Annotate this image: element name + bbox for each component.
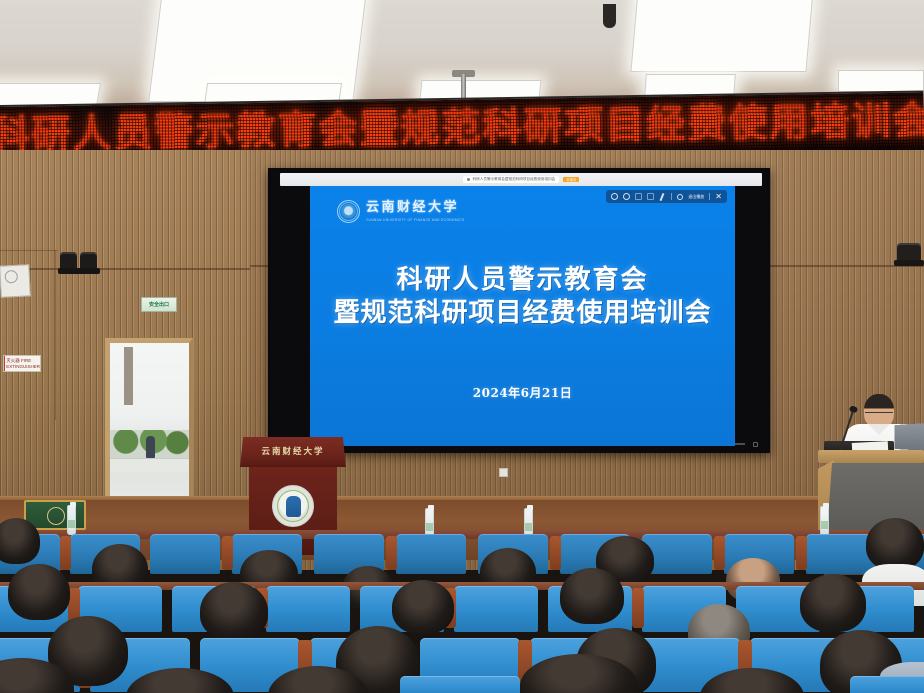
water-bottle bbox=[820, 506, 829, 536]
railing-outside bbox=[110, 458, 189, 472]
slide-title: 科研人员警示教育会 暨规范科研项目经费使用培训会 bbox=[310, 264, 735, 331]
wall-plaque bbox=[0, 264, 31, 298]
ceiling-light-panel bbox=[630, 0, 813, 72]
audience-head bbox=[866, 518, 924, 570]
exit-sign-text: 安全出口 bbox=[149, 301, 169, 308]
exit-sign: 安全出口 bbox=[141, 297, 177, 312]
ceiling-light-panel bbox=[838, 70, 924, 92]
logo-names: 云南财经大学 YUNNAN UNIVERSITY OF FINANCE AND … bbox=[366, 201, 464, 221]
logo-chinese-name: 云南财经大学 bbox=[366, 201, 464, 215]
audience-head bbox=[560, 568, 624, 624]
browser-tab[interactable]: 科研人员警示教育会暨规范科研项目经费使用培训会 bbox=[463, 176, 560, 183]
podium-emblem-icon bbox=[272, 485, 314, 527]
armrest bbox=[386, 536, 397, 570]
podium-label: 云南财经大学 bbox=[240, 445, 346, 457]
page-next-icon[interactable] bbox=[647, 193, 654, 200]
close-icon[interactable]: ✕ bbox=[715, 193, 722, 201]
stage-spotlight-right bbox=[897, 243, 921, 263]
armrest bbox=[60, 536, 71, 570]
player-toolbar: 退出播放 ✕ bbox=[606, 190, 727, 203]
university-logo: 云南财经大学 YUNNAN UNIVERSITY OF FINANCE AND … bbox=[337, 200, 464, 223]
laptop-icon[interactable] bbox=[894, 423, 924, 452]
armrest bbox=[632, 588, 644, 628]
wall-seam bbox=[0, 268, 250, 270]
armrest bbox=[222, 536, 233, 570]
seat[interactable] bbox=[396, 534, 466, 574]
seat[interactable] bbox=[266, 586, 350, 632]
wall-panel-line bbox=[0, 250, 58, 251]
screen-bottom-nub bbox=[735, 443, 745, 445]
toolbar-divider bbox=[671, 193, 672, 200]
university-emblem-icon bbox=[337, 200, 360, 223]
armrest bbox=[550, 536, 561, 570]
projection-screen: 科研人员警示教育会暨规范科研项目经费使用培训会 未保存 云南财经大学 YUNNA… bbox=[268, 168, 770, 453]
ceiling-speaker-icon bbox=[603, 4, 616, 28]
page-prev-icon[interactable] bbox=[635, 193, 642, 200]
pen-icon[interactable] bbox=[659, 193, 666, 200]
stage-spotlight-pair bbox=[60, 252, 98, 270]
audience-head bbox=[392, 580, 454, 634]
browser-tab-title: 科研人员警示教育会暨规范科研项目经费使用培训会 bbox=[473, 177, 556, 182]
slide-title-line1: 科研人员警示教育会 bbox=[310, 264, 735, 297]
slide-title-line2: 暨规范科研项目经费使用培训会 bbox=[310, 297, 735, 330]
record-label[interactable]: 退出播放 bbox=[688, 194, 704, 200]
seat[interactable] bbox=[850, 676, 924, 693]
seat[interactable] bbox=[150, 534, 220, 574]
led-banner-text: 科研人员警示教育会暨规范科研项目经费使用培训会 bbox=[0, 101, 924, 155]
screen-control-dot bbox=[753, 442, 758, 447]
logo-english-name: YUNNAN UNIVERSITY OF FINANCE AND ECONOMI… bbox=[366, 218, 464, 222]
fire-sign-text: 灭火器 FIRE EXTINGUISHER bbox=[4, 358, 40, 369]
audience-seating bbox=[0, 530, 924, 693]
toolbar-divider bbox=[709, 193, 710, 200]
wall-switch[interactable] bbox=[499, 468, 508, 477]
armrest bbox=[714, 536, 725, 570]
seat[interactable] bbox=[454, 586, 538, 632]
fire-extinguisher-sign: 灭火器 FIRE EXTINGUISHER bbox=[3, 355, 41, 372]
tree-outside bbox=[124, 347, 133, 405]
record-icon[interactable] bbox=[677, 194, 683, 200]
wall-panel-line bbox=[55, 250, 56, 420]
armrest bbox=[796, 536, 807, 570]
auditorium-scene: 科研人员警示教育会暨规范科研项目经费使用培训会 安全出口 灭火器 FIRE EX… bbox=[0, 0, 924, 693]
person-outside bbox=[146, 436, 155, 458]
zoom-in-icon[interactable] bbox=[611, 193, 618, 200]
audience-head bbox=[0, 518, 40, 564]
audience-head bbox=[8, 564, 70, 620]
browser-tab-bar: 科研人员警示教育会暨规范科研项目经费使用培训会 未保存 bbox=[280, 173, 762, 186]
seat[interactable] bbox=[400, 676, 520, 693]
water-bottle bbox=[67, 505, 76, 535]
presentation-slide: 云南财经大学 YUNNAN UNIVERSITY OF FINANCE AND … bbox=[310, 186, 735, 446]
audience-head bbox=[200, 582, 268, 640]
tab-badge: 未保存 bbox=[563, 177, 579, 182]
zoom-out-icon[interactable] bbox=[623, 193, 630, 200]
presenter-head bbox=[864, 394, 894, 428]
audience-head bbox=[800, 574, 866, 632]
document-icon bbox=[467, 178, 470, 181]
glasses-icon bbox=[865, 412, 893, 417]
slide-date: 2024年6月21日 bbox=[310, 384, 735, 401]
